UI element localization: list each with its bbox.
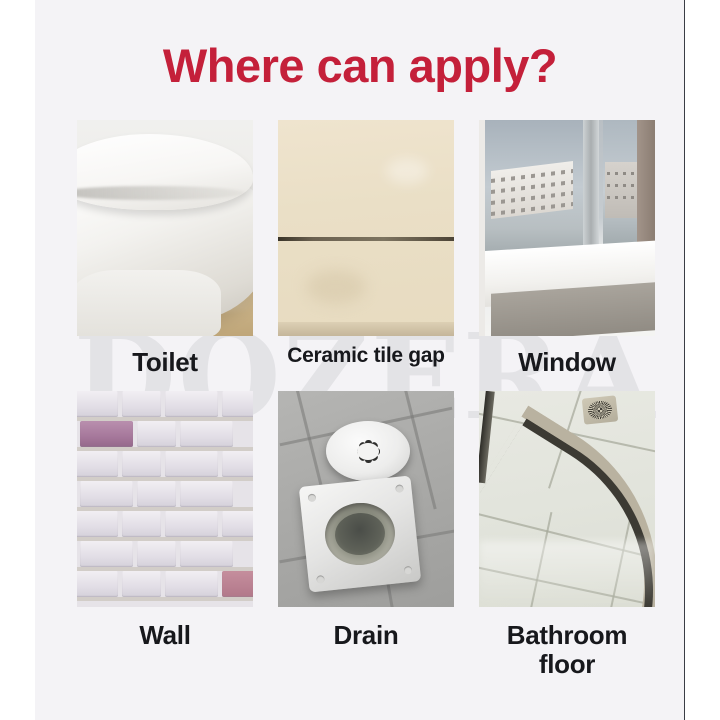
caption-drain: Drain — [334, 621, 399, 650]
drain-screw — [404, 566, 413, 575]
drain-cover — [326, 421, 410, 481]
window-photo — [479, 120, 655, 336]
drain-cover-hub — [357, 443, 379, 460]
brick-wall-photo — [77, 391, 253, 607]
outside-building-1 — [491, 161, 573, 219]
caption-bathroom-floor: Bathroom floor — [479, 621, 655, 679]
floor-drain-photo — [278, 391, 454, 607]
drain-screw — [395, 484, 404, 493]
grid-cell-window: Window — [479, 120, 655, 377]
caption-wall: Wall — [139, 621, 190, 650]
drain-opening — [322, 500, 398, 569]
floor-sheen — [479, 541, 655, 607]
tile-shade-spot — [306, 270, 366, 304]
grid-cell-toilet: Toilet — [77, 120, 253, 377]
page-title: Where can apply? — [35, 38, 685, 93]
grid-row: Wall — [77, 391, 655, 679]
application-grid: Toilet Ceramic tile gap — [77, 120, 655, 679]
small-floor-drain — [582, 395, 619, 424]
tile-highlight-spot — [386, 158, 428, 184]
drain-body — [299, 476, 421, 593]
toilet-base-shape — [77, 270, 221, 336]
bathroom-floor-photo — [479, 391, 655, 607]
grid-cell-ceramic-tile-gap: Ceramic tile gap — [278, 120, 454, 377]
grid-cell-wall: Wall — [77, 391, 253, 679]
outside-building-2 — [605, 162, 639, 218]
grid-cell-bathroom-floor: Bathroom floor — [479, 391, 655, 679]
grid-row: Toilet Ceramic tile gap — [77, 120, 655, 377]
drain-screw — [316, 575, 325, 584]
caption-toilet: Toilet — [132, 348, 198, 377]
tile-bottom-edge — [278, 322, 454, 336]
poster-card: DOZERA Where can apply? Toilet — [35, 0, 685, 720]
brick-mortar-overlay — [77, 391, 253, 607]
toilet-photo — [77, 120, 253, 336]
poster: DOZERA Where can apply? Toilet — [0, 0, 720, 720]
ceramic-tile-gap-photo — [278, 120, 454, 336]
tile-grout-line — [278, 237, 454, 241]
caption-window: Window — [518, 348, 616, 377]
grid-cell-drain: Drain — [278, 391, 454, 679]
window-wall-left — [479, 120, 485, 336]
caption-ceramic-tile-gap: Ceramic tile gap — [287, 344, 444, 368]
drain-screw — [308, 494, 317, 503]
